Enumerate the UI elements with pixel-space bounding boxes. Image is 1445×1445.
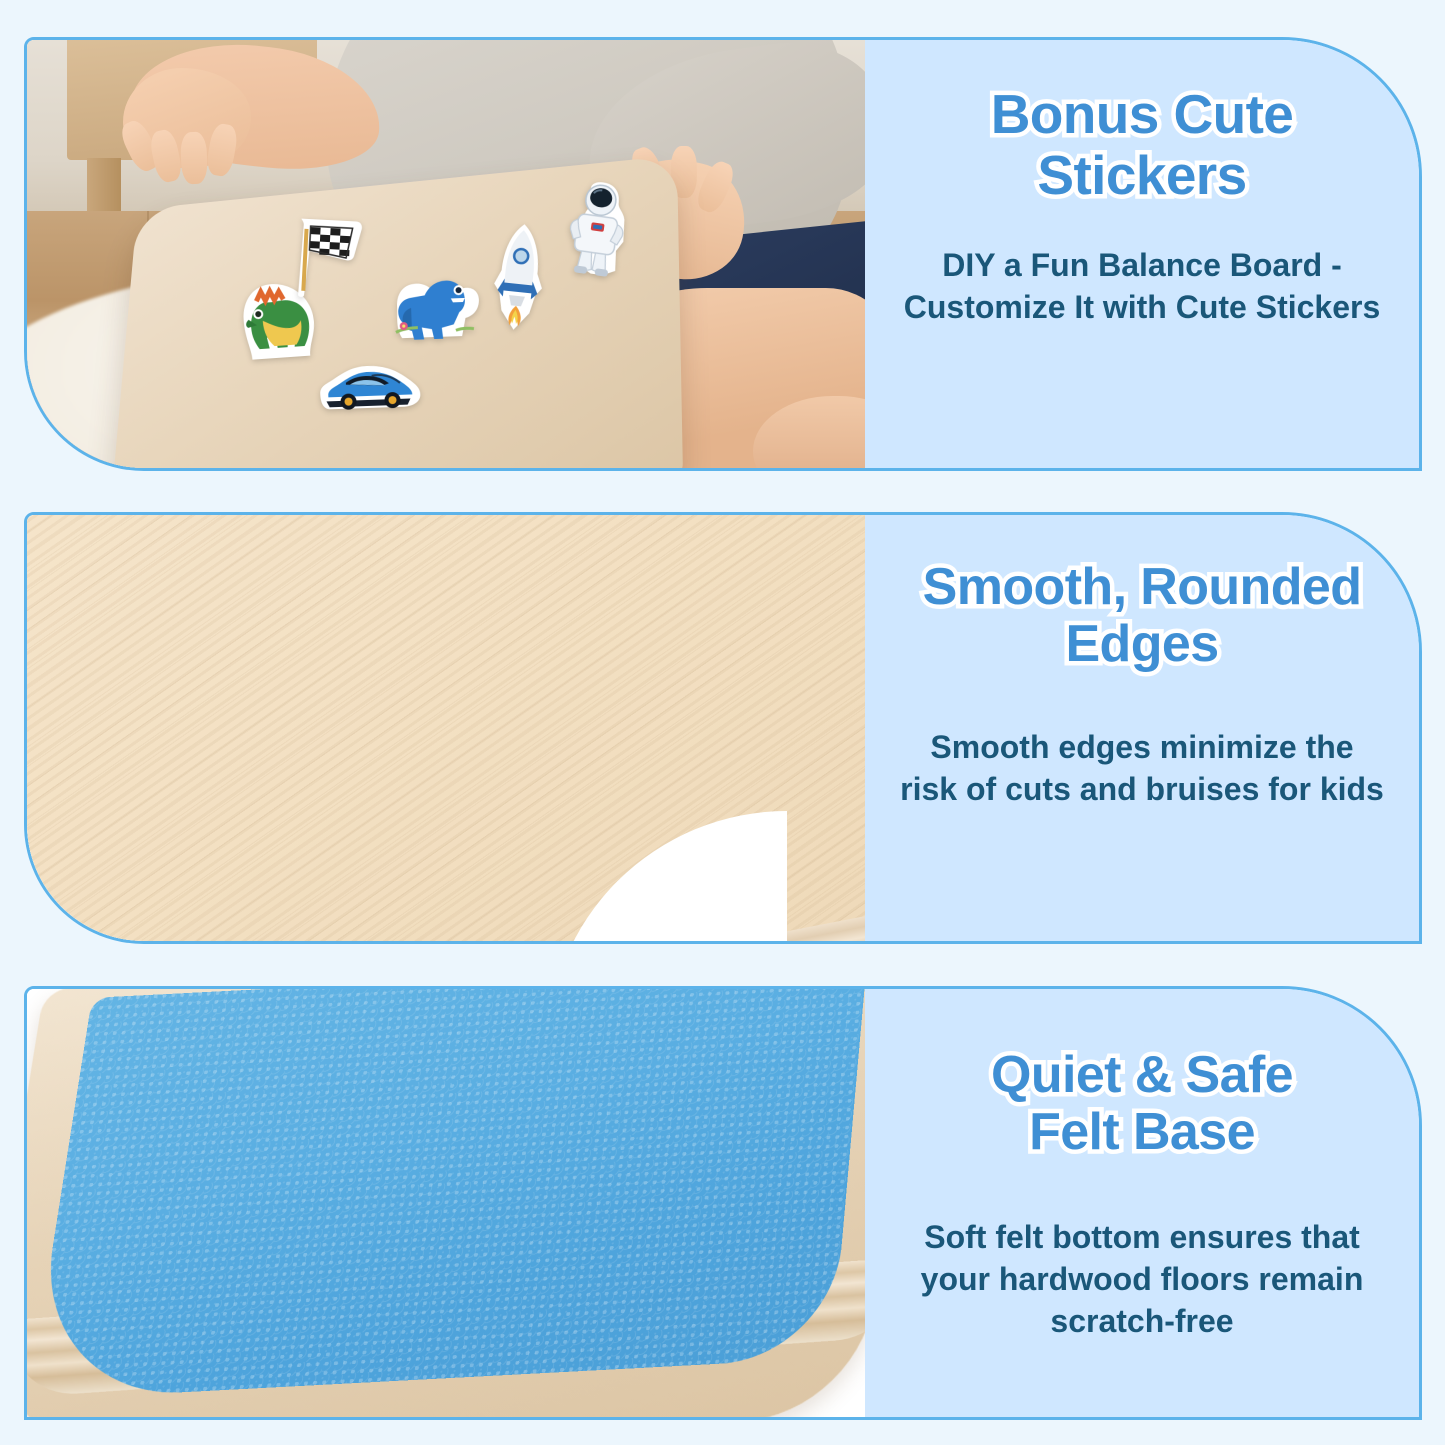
panel-3-title-line-2: Felt Base (1029, 1103, 1255, 1161)
blue-sports-car-sticker (311, 356, 423, 416)
panel-2-title: Smooth, Rounded Edges (923, 559, 1362, 673)
panel-3-title: Quiet & Safe Felt Base (991, 1047, 1293, 1161)
panel-1-subtitle-line-1: DIY a Fun Balance Board - (942, 247, 1342, 283)
panel-3-subtitle-line-3: scratch-free (1050, 1303, 1233, 1339)
panel-3-subtitle-line-2: your hardwood floors remain (921, 1261, 1364, 1297)
feature-panel-bonus-stickers: Bonus Cute Stickers DIY a Fun Balance Bo… (24, 37, 1422, 471)
panel-1-title-line-1: Bonus Cute (991, 83, 1294, 145)
feature-panel-rounded-edges: Smooth, Rounded Edges Smooth edges minim… (24, 512, 1422, 944)
panel-2-title-line-2: Edges (1065, 615, 1218, 673)
panel-3-text: Quiet & Safe Felt Base Soft felt bottom … (865, 989, 1419, 1417)
panel-1-subtitle-line-2: Customize It with Cute Stickers (904, 289, 1381, 325)
panel-3-subtitle-line-1: Soft felt bottom ensures that (924, 1219, 1360, 1255)
panel-2-subtitle: Smooth edges minimize the risk of cuts a… (900, 727, 1384, 810)
panel-2-subtitle-line-2: risk of cuts and bruises for kids (900, 771, 1384, 807)
checkered-racing-flag-sticker (290, 216, 364, 302)
panel-2-title-line-1: Smooth, Rounded (923, 558, 1362, 616)
blue-trex-dinosaur-sticker (386, 263, 485, 344)
panel-1-photo (27, 40, 865, 468)
astronaut-sticker (560, 176, 635, 280)
infographic-page: Bonus Cute Stickers DIY a Fun Balance Bo… (0, 0, 1445, 1445)
panel-2-text: Smooth, Rounded Edges Smooth edges minim… (865, 515, 1419, 941)
rocket-sticker (481, 219, 556, 335)
panel-1-title-line-2: Stickers (1037, 144, 1246, 206)
panel-2-subtitle-line-1: Smooth edges minimize the (930, 729, 1353, 765)
panel-2-photo (27, 515, 865, 941)
panel-1-title: Bonus Cute Stickers (991, 84, 1294, 205)
panel-3-title-line-1: Quiet & Safe (991, 1046, 1293, 1104)
panel-3-subtitle: Soft felt bottom ensures that your hardw… (921, 1217, 1364, 1342)
feature-panel-felt-base: Quiet & Safe Felt Base Soft felt bottom … (24, 986, 1422, 1420)
panel-3-photo (27, 989, 865, 1417)
panel-1-text: Bonus Cute Stickers DIY a Fun Balance Bo… (865, 40, 1419, 468)
panel-1-subtitle: DIY a Fun Balance Board - Customize It w… (904, 245, 1381, 328)
